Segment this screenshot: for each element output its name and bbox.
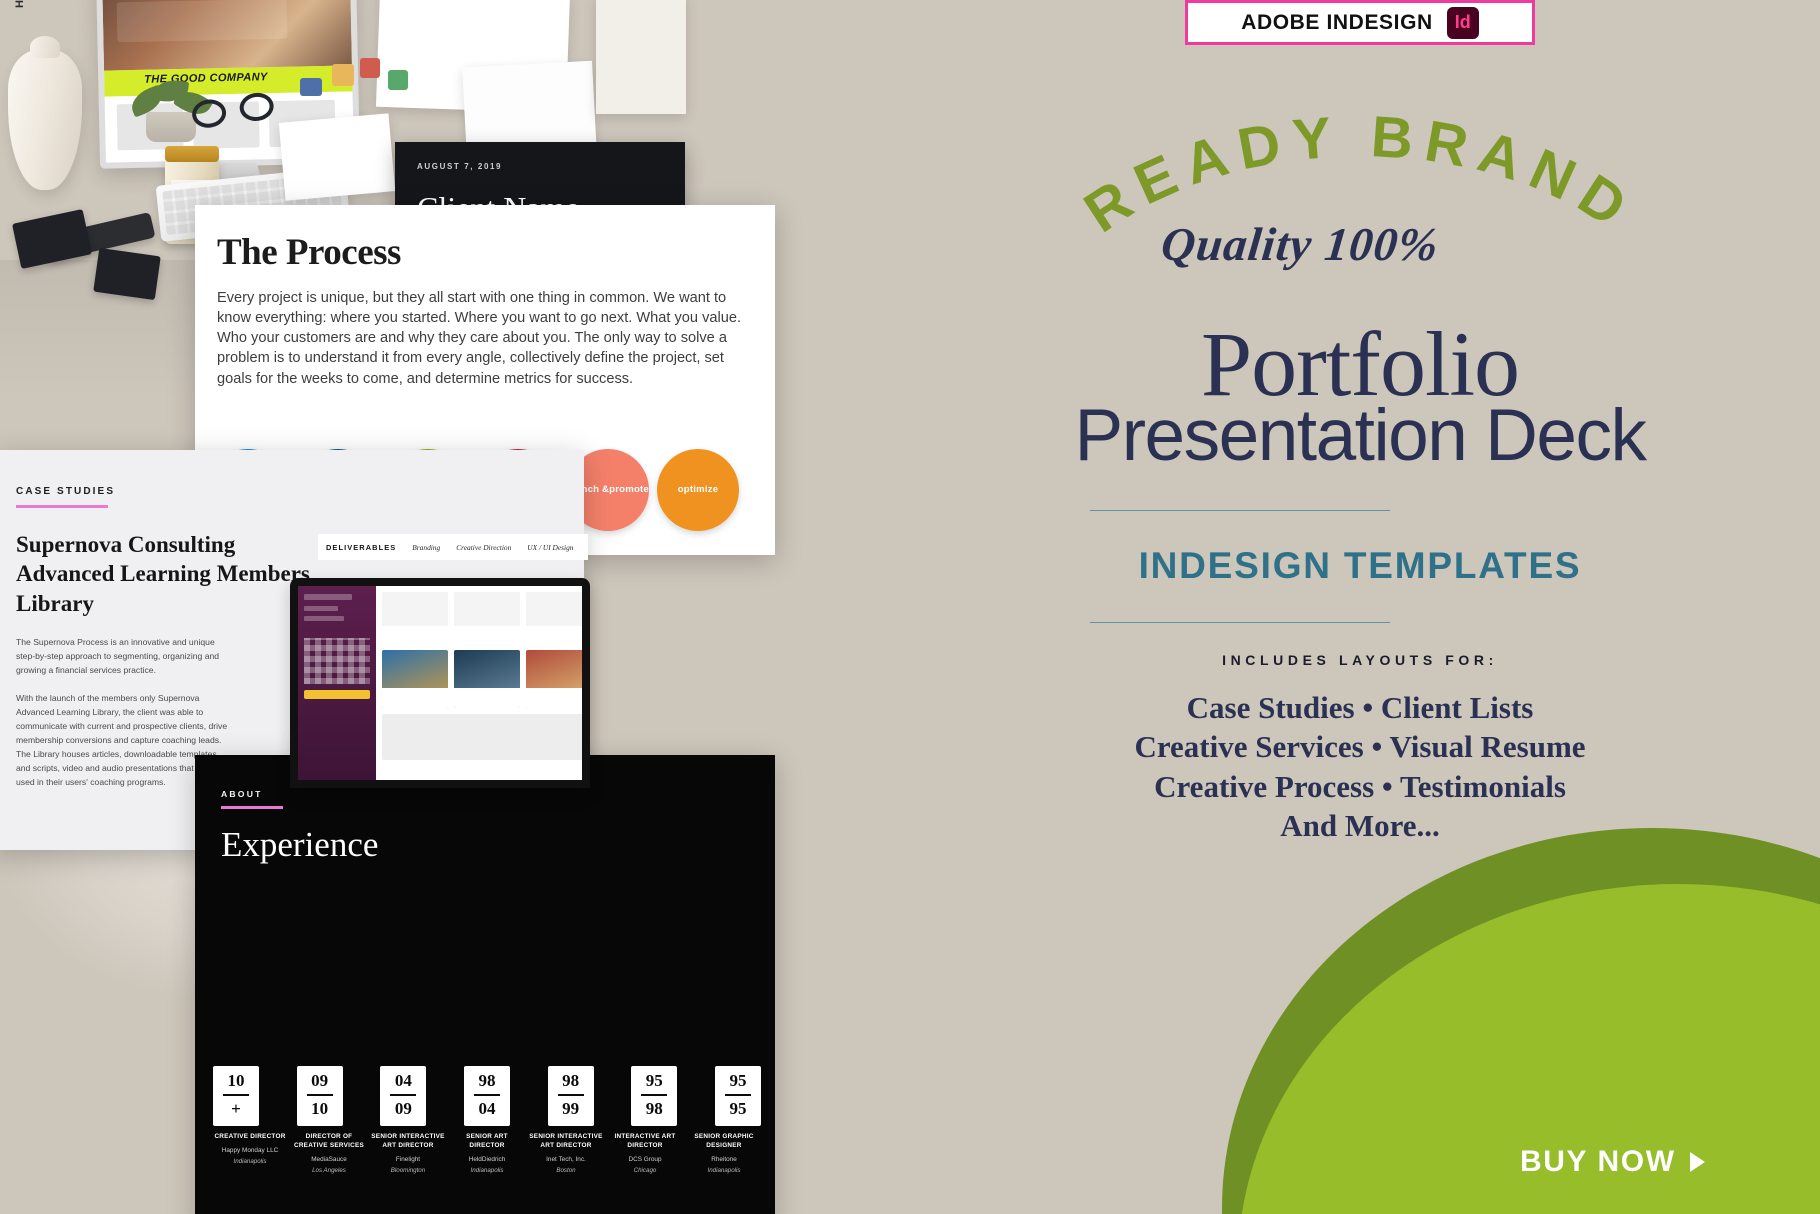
experience-title: Experience: [221, 825, 775, 865]
includes-layouts-label: INCLUDES LAYOUTS FOR:: [900, 652, 1820, 668]
timeline-role: DIRECTOR OF CREATIVE SERVICES: [292, 1133, 366, 1151]
timeline-divider: [641, 1094, 667, 1096]
deliverable-item: Branding: [412, 543, 440, 552]
timeline-city: Boston: [529, 1167, 603, 1174]
timeline-company: Rheitone: [687, 1156, 761, 1163]
timeline-role: SENIOR INTERACTIVE ART DIRECTOR: [529, 1133, 603, 1151]
timeline-role: INTERACTIVE ART DIRECTOR: [608, 1133, 682, 1151]
calendar-widget: [304, 638, 370, 684]
process-step-circle: optimize: [657, 449, 739, 531]
experience-slide: ABOUT Experience 10+09100409980498999598…: [195, 755, 775, 1214]
timeline-year-to: 99: [548, 1100, 594, 1118]
process-step-label: promote: [609, 484, 649, 496]
timeline-year-card: 10+: [213, 1066, 259, 1126]
timeline-year-to: +: [213, 1100, 259, 1118]
timeline-city: Indianapolis: [687, 1167, 761, 1174]
timeline-year-from: 04: [380, 1072, 426, 1090]
timeline-city: Chicago: [608, 1167, 682, 1174]
timeline-city: Bloomington: [371, 1167, 445, 1174]
experience-meta-row: CREATIVE DIRECTORHappy Monday LLCIndiana…: [213, 1133, 761, 1203]
timeline-entry-meta: INTERACTIVE ART DIRECTORDCS GroupChicago: [608, 1133, 682, 1203]
timeline-year-from: 98: [548, 1072, 594, 1090]
deliverable-item: Creative Direction: [456, 543, 511, 552]
divider-rule-bottom: [1090, 622, 1390, 623]
timeline-year-from: 09: [297, 1072, 343, 1090]
content-tile: [382, 592, 448, 644]
timeline-divider: [558, 1094, 584, 1096]
timeline-company: Happy Monday LLC: [213, 1147, 287, 1154]
timeline-year-from: 95: [715, 1072, 761, 1090]
sticky-note-b: [360, 58, 380, 78]
timeline-entry-meta: SENIOR GRAPHIC DESIGNERRheitoneIndianapo…: [687, 1133, 761, 1203]
timeline-entry-meta: CREATIVE DIRECTORHappy Monday LLCIndiana…: [213, 1133, 287, 1203]
deliverable-item: UX / UI Design: [527, 543, 573, 552]
process-step-label: optimize: [678, 484, 719, 496]
happ-edge-label: HAPP: [14, 0, 26, 8]
timeline-entry-meta: SENIOR INTERACTIVE ART DIRECTORInet Tech…: [529, 1133, 603, 1203]
timeline-divider: [725, 1094, 751, 1096]
case-slide-title: Supernova Consulting Advanced Learning M…: [16, 530, 316, 618]
laptop-sidebar: [298, 586, 376, 780]
timeline-year-from: 98: [464, 1072, 510, 1090]
timeline-role: CREATIVE DIRECTOR: [213, 1133, 287, 1142]
timeline-divider: [390, 1094, 416, 1096]
photo-tile: [526, 650, 582, 708]
content-tile: [454, 592, 520, 644]
deliverables-row: DELIVERABLES Branding Creative Direction…: [318, 534, 588, 560]
process-slide-body: Every project is unique, but they all st…: [217, 288, 762, 389]
layouts-list-item: Case Studies • Client Lists: [900, 688, 1820, 727]
timeline-divider: [307, 1094, 333, 1096]
timeline-year-card: 9804: [464, 1066, 510, 1126]
timeline-year-card: 0409: [380, 1066, 426, 1126]
experience-kicker: ABOUT: [221, 789, 775, 799]
sticky-note-d: [300, 78, 322, 96]
timeline-entry-meta: SENIOR ART DIRECTORHeldDiedrichIndianapo…: [450, 1133, 524, 1203]
timeline-company: Finelight: [371, 1156, 445, 1163]
timeline-year-to: 98: [631, 1100, 677, 1118]
indesign-icon: Id: [1447, 7, 1479, 39]
adobe-indesign-badge: ADOBE INDESIGN Id: [1185, 0, 1535, 45]
experience-accent-rule: [221, 806, 283, 809]
timeline-divider: [223, 1094, 249, 1096]
page-title-line-2: Presentation Deck: [900, 398, 1820, 475]
sticky-note-c: [388, 70, 408, 90]
notebook-object: [279, 113, 395, 200]
timeline-year-card: 0910: [297, 1066, 343, 1126]
timeline-company: Inet Tech, Inc.: [529, 1156, 603, 1163]
monitor-hero-image: [102, 0, 352, 71]
divider-rule-top: [1090, 510, 1390, 511]
timeline-year-card: 9899: [548, 1066, 594, 1126]
timeline-entry-meta: DIRECTOR OF CREATIVE SERVICESMediaSauceL…: [292, 1133, 366, 1203]
case-slide-para-1: The Supernova Process is an innovative a…: [16, 636, 228, 678]
timeline-role: SENIOR ART DIRECTOR: [450, 1133, 524, 1151]
timeline-year-to: 04: [464, 1100, 510, 1118]
timeline-company: DCS Group: [608, 1156, 682, 1163]
timeline-city: Los Angeles: [292, 1167, 366, 1174]
timeline-role: SENIOR GRAPHIC DESIGNER: [687, 1133, 761, 1151]
laptop-screen: [298, 586, 582, 780]
timeline-year-card: 9595: [715, 1066, 761, 1126]
timeline-city: Indianapolis: [450, 1167, 524, 1174]
quality-script-text: Quality 100%: [897, 218, 1703, 272]
timeline-year-from: 95: [631, 1072, 677, 1090]
case-slide-accent-rule: [16, 505, 108, 508]
layouts-list-item: Creative Process • Testimonials: [900, 767, 1820, 806]
process-slide-title: The Process: [217, 231, 775, 274]
case-slide-kicker: CASE STUDIES: [16, 486, 584, 497]
buy-now-button[interactable]: BUY NOW: [1520, 1145, 1705, 1179]
timeline-role: SENIOR INTERACTIVE ART DIRECTOR: [371, 1133, 445, 1151]
layouts-list-item: Creative Services • Visual Resume: [900, 727, 1820, 766]
content-tile: [382, 714, 582, 760]
buy-now-label: BUY NOW: [1520, 1145, 1676, 1179]
timeline-company: HeldDiedrich: [450, 1156, 524, 1163]
timeline-divider: [474, 1094, 500, 1096]
photo-tile: [454, 650, 520, 708]
ready-brand-arc: READY BRAND: [960, 120, 1760, 305]
laptop-mockup: [290, 578, 590, 788]
timeline-year-to: 10: [297, 1100, 343, 1118]
timeline-year-to: 09: [380, 1100, 426, 1118]
layouts-list: Case Studies • Client ListsCreative Serv…: [900, 688, 1820, 845]
adobe-indesign-label: ADOBE INDESIGN: [1241, 11, 1433, 35]
timeline-year-from: 10: [213, 1072, 259, 1090]
timeline-year-card: 9598: [631, 1066, 677, 1126]
client-slide-date: AUGUST 7, 2019: [417, 162, 502, 171]
timeline-company: MediaSauce: [292, 1156, 366, 1163]
content-tile: [526, 592, 582, 644]
sticky-note-a: [332, 64, 354, 86]
timeline-year-to: 95: [715, 1100, 761, 1118]
promo-banner: THE GOOD COMPANY: [0, 0, 1820, 1214]
deliverables-label: DELIVERABLES: [326, 543, 396, 552]
side-paper: [596, 0, 686, 114]
business-card-b: [93, 248, 161, 300]
photo-tile: [382, 650, 448, 708]
subtitle-indesign-templates: INDESIGN TEMPLATES: [900, 545, 1820, 587]
timeline-city: Indianapolis: [213, 1158, 287, 1165]
experience-timeline-row: 10+091004099804989995989595: [213, 1050, 761, 1126]
play-triangle-icon: [1690, 1152, 1705, 1172]
timeline-entry-meta: SENIOR INTERACTIVE ART DIRECTORFinelight…: [371, 1133, 445, 1203]
highlight-bar: [304, 690, 370, 699]
